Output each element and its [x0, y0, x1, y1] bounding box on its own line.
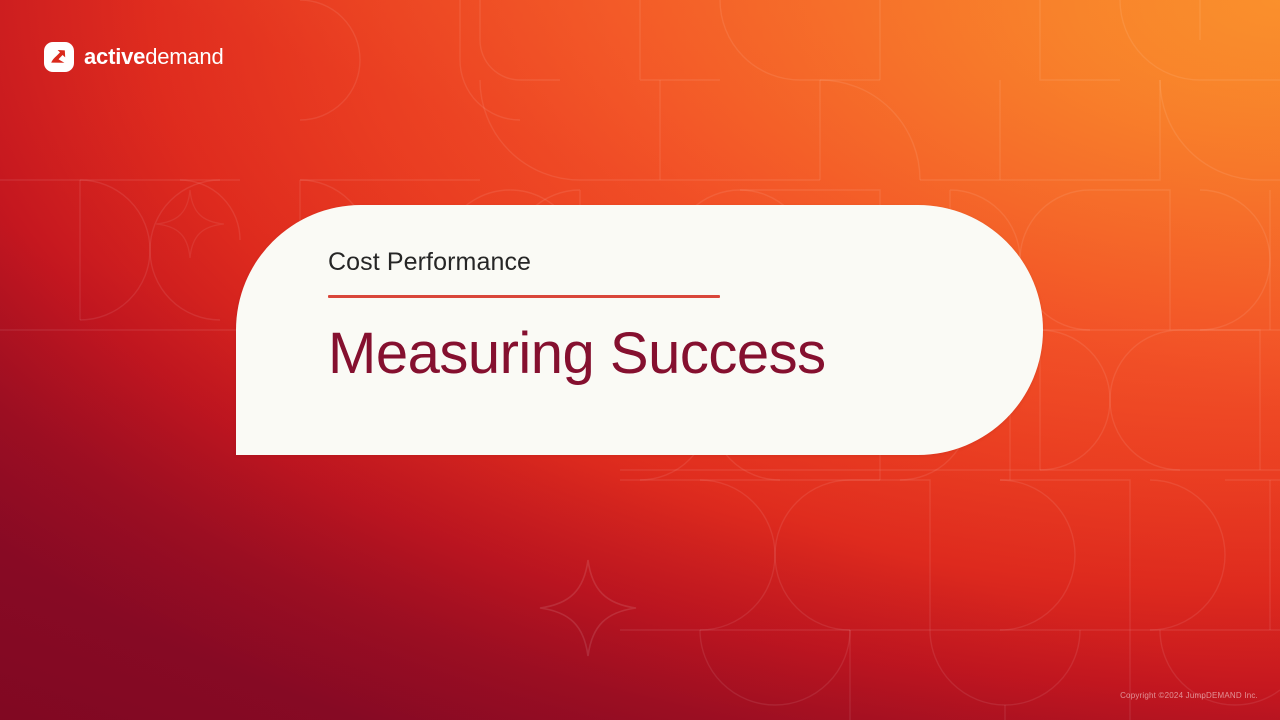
four-point-sparkle-icon: [540, 560, 636, 656]
copyright-notice: Copyright ©2024 JumpDEMAND Inc.: [1120, 691, 1258, 700]
presentation-slide: activedemand Cost Performance Measuring …: [0, 0, 1280, 720]
accent-divider: [328, 295, 720, 298]
page-title: Measuring Success: [328, 323, 1003, 386]
brand-logo[interactable]: activedemand: [44, 42, 224, 72]
eyebrow-label: Cost Performance: [328, 249, 1003, 277]
four-point-sparkle-small-icon: [156, 190, 224, 258]
brand-wordmark: activedemand: [84, 46, 224, 69]
brand-name-bold: active: [84, 44, 145, 69]
title-card-content: Cost Performance Measuring Success: [328, 249, 1003, 385]
brand-name-light: demand: [145, 44, 223, 69]
activedemand-arrow-logo-icon: [44, 42, 74, 72]
title-card: Cost Performance Measuring Success: [236, 205, 1043, 455]
